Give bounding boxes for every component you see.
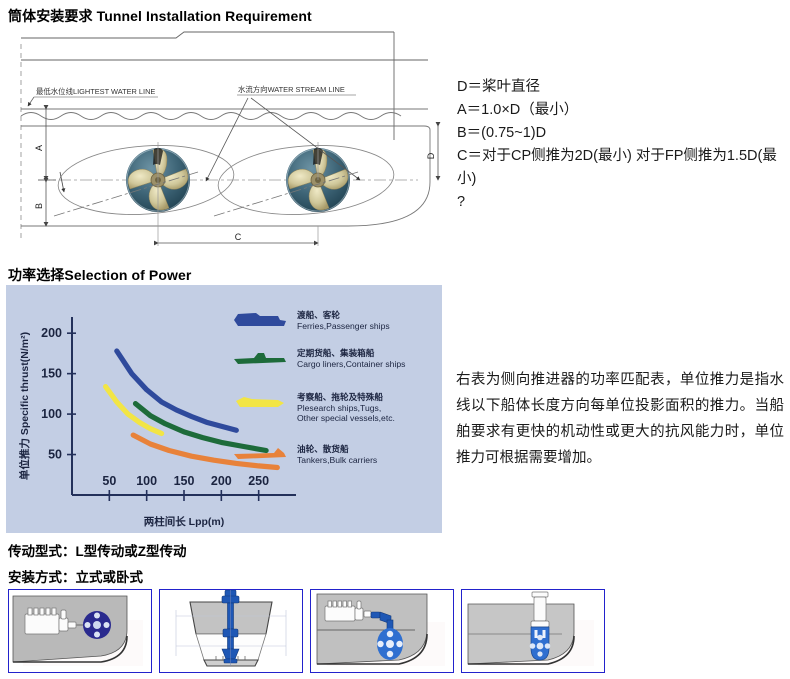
- page-title-tunnel-installation: 筒体安装要求 Tunnel Installation Requirement: [8, 6, 312, 26]
- installation-panel-horizontal-l-drive: [310, 589, 454, 673]
- dimension-d: D: [426, 126, 438, 180]
- chart-y-tick: 100: [41, 407, 62, 421]
- chart-y-tick: 50: [48, 448, 62, 462]
- chart-legend-label-en: Ferries,Passenger ships: [297, 321, 390, 331]
- dimension-b-label: B: [34, 203, 44, 209]
- water-stream-line-text: 水流方向WATER STREAM LINE: [238, 85, 345, 94]
- formula-list: D＝桨叶直径 A＝1.0×D（最小） B＝(0.75~1)D C＝对于CP侧推为…: [457, 76, 787, 214]
- chart-legend-label-cn: 定期货船、集装箱船: [297, 347, 375, 358]
- dimension-b: B: [34, 180, 56, 226]
- transmission-type-line: 传动型式：L型传动或Z型传动: [8, 540, 187, 560]
- installation-panel-group: [8, 589, 605, 673]
- chart-y-tick: 150: [41, 367, 62, 381]
- thruster-unit: [377, 628, 403, 660]
- lightest-water-line-text: 最低水位线LIGHTEST WATER LINE: [36, 87, 155, 96]
- chart-y-tick: 200: [41, 326, 62, 340]
- chart-legend-label-cn: 考察船、拖轮及特殊船: [297, 391, 383, 402]
- chart-x-axis-label: 两柱间长 Lpp(m): [144, 515, 225, 528]
- dimension-d-label: D: [426, 152, 436, 159]
- chart-x-tick: 150: [174, 474, 195, 488]
- dimension-c: C: [158, 226, 318, 246]
- dimension-a: A: [34, 109, 46, 180]
- specific-thrust-chart: 50100150200 50100150200250 渡船、客轮Ferries,…: [6, 285, 442, 533]
- page-title-selection-of-power: 功率选择Selection of Power: [8, 265, 191, 285]
- chart-x-tick: 100: [136, 474, 157, 488]
- formula-item-b: B＝(0.75~1)D: [457, 122, 787, 145]
- formula-item-a: A＝1.0×D（最小）: [457, 99, 787, 122]
- thruster-unit: [530, 627, 551, 660]
- chart-x-tick: 200: [211, 474, 232, 488]
- chart-legend-label-cn: 渡船、客轮: [297, 309, 340, 320]
- formula-item-d: D＝桨叶直径: [457, 76, 787, 99]
- mounting-type-line: 安装方式：立式或卧式: [8, 566, 143, 586]
- chart-y-axis-label: 单位推力 Specific thrust(N/m²): [18, 332, 31, 480]
- dimension-a-label: A: [34, 145, 44, 151]
- installation-panel-vertical-compact: [461, 589, 605, 673]
- page-root: 筒体安装要求 Tunnel Installation Requirement: [0, 0, 790, 679]
- chart-x-tick: 250: [248, 474, 269, 488]
- chart-x-tick: 50: [102, 474, 116, 488]
- chart-legend-label-en: Tankers,Bulk carriers: [297, 455, 377, 465]
- formula-item-question: ?: [457, 191, 787, 214]
- formula-item-c: C＝对于CP侧推为2D(最小) 对于FP侧推为1.5D(最小): [457, 145, 787, 191]
- power-description-text: 右表为侧向推进器的功率匹配表，单位推力是指水线以下船体长度方向每单位投影面积的推…: [456, 367, 784, 471]
- tunnel-installation-diagram: 最低水位线LIGHTEST WATER LINE: [8, 30, 448, 258]
- installation-panel-horizontal-inline: [8, 589, 152, 673]
- chart-legend-label-cn: 油轮、散货船: [297, 443, 349, 454]
- chart-legend-label-en: Other special vessels,etc.: [297, 413, 395, 423]
- label-lightest-water-line: 最低水位线LIGHTEST WATER LINE: [28, 87, 158, 106]
- thruster-unit: [83, 611, 111, 639]
- installation-panel-vertical-z-drive: [159, 589, 303, 673]
- dimension-c-label: C: [235, 232, 242, 242]
- chart-legend-label-en: Cargo liners,Container ships: [297, 359, 405, 369]
- chart-legend-label-en: Plesearch ships,Tugs,: [297, 403, 381, 413]
